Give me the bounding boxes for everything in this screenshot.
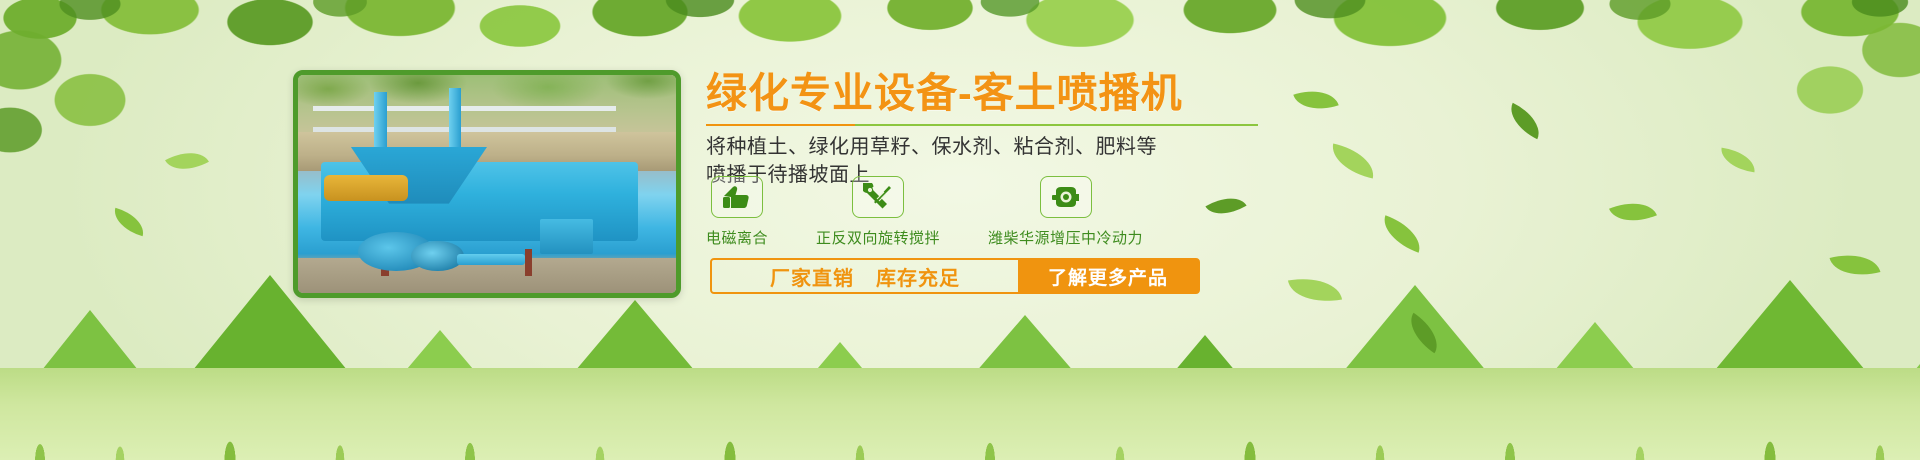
learn-more-button[interactable]: 了解更多产品 bbox=[1018, 260, 1198, 292]
cta-tags: 厂家直销 库存充足 bbox=[712, 262, 1018, 291]
headline-block: 绿化专业设备-客土喷播机 将种植土、绿化用草籽、保水剂、粘合剂、肥料等 喷播于待… bbox=[706, 68, 1266, 189]
feature-label: 电磁离合 bbox=[706, 227, 768, 248]
cta-tag-factory-direct: 厂家直销 bbox=[770, 262, 854, 291]
feature-item-weichai-power: 潍柴华源增压中冷动力 bbox=[988, 176, 1143, 248]
cta-tag-stock-available: 库存充足 bbox=[876, 262, 960, 291]
floating-leaf-icon bbox=[1205, 188, 1246, 223]
thumbs-up-icon bbox=[711, 176, 763, 218]
feature-label: 潍柴华源增压中冷动力 bbox=[988, 227, 1143, 248]
feature-label: 正反双向旋转搅拌 bbox=[816, 227, 940, 248]
engine-gear-icon bbox=[1040, 176, 1092, 218]
product-photo bbox=[293, 70, 681, 298]
title-divider bbox=[706, 124, 1258, 126]
right-foliage-decoration bbox=[1620, 0, 1920, 180]
left-foliage-decoration bbox=[0, 0, 320, 200]
grass-tufts bbox=[0, 390, 1920, 460]
promo-banner: 绿化专业设备-客土喷播机 将种植土、绿化用草籽、保水剂、粘合剂、肥料等 喷播于待… bbox=[0, 0, 1920, 460]
feature-list: 电磁离合 正反双向旋转搅拌 bbox=[706, 176, 1143, 248]
feature-item-bidirectional-mixing: 正反双向旋转搅拌 bbox=[816, 176, 940, 248]
cta-bar: 厂家直销 库存充足 了解更多产品 bbox=[710, 258, 1200, 294]
wrench-screwdriver-icon bbox=[852, 176, 904, 218]
subtitle-line-1: 将种植土、绿化用草籽、保水剂、粘合剂、肥料等 bbox=[706, 133, 1266, 161]
floating-leaf-icon bbox=[1503, 103, 1547, 139]
floating-leaf-icon bbox=[1609, 193, 1657, 231]
floating-leaf-icon bbox=[1328, 144, 1378, 179]
page-title: 绿化专业设备-客土喷播机 bbox=[706, 68, 1266, 118]
feature-item-electromagnetic-clutch: 电磁离合 bbox=[706, 176, 768, 248]
